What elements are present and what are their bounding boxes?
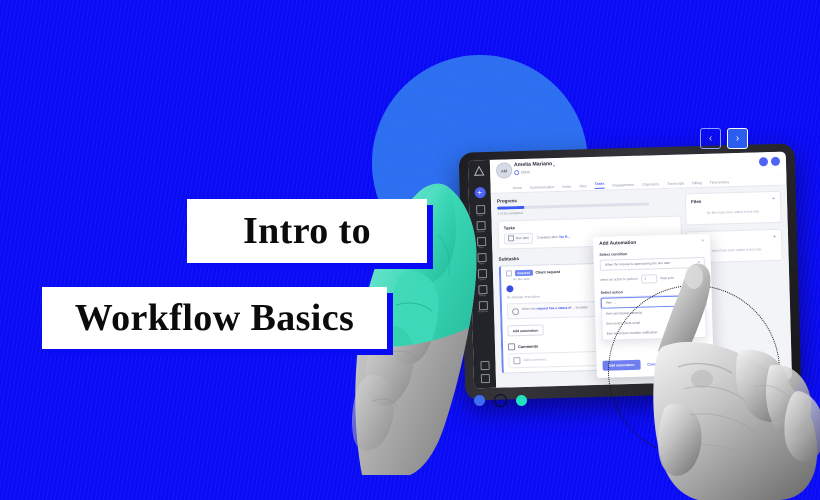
rail-item-inbox[interactable]: Inbox	[473, 205, 488, 217]
dotted-circle-decoration	[608, 285, 780, 457]
subtask-owner-avatar	[506, 285, 513, 292]
carousel-dot-3[interactable]	[516, 395, 527, 406]
condition-value: When the request is approaching the due …	[605, 261, 670, 267]
rail-item-files[interactable]: Files	[473, 237, 488, 249]
tab-engagements[interactable]: Engagements	[612, 182, 634, 187]
days-prior-input[interactable]: 1	[641, 274, 658, 284]
files-panel-title: Files	[691, 199, 701, 204]
days-prior-suffix: days prior	[660, 276, 674, 280]
rail-item-billing[interactable]: Billing	[475, 285, 490, 297]
inbox-icon	[476, 205, 485, 214]
slide-canvas: + Inbox Contacts Files	[0, 0, 820, 500]
chevron-down-icon: ▾	[698, 260, 700, 264]
progress-title: Progress	[497, 194, 681, 204]
checkbox-icon[interactable]	[506, 270, 512, 276]
comms-icon	[477, 269, 486, 278]
templates-icon	[478, 301, 487, 310]
comment-icon	[508, 343, 515, 350]
carousel-arrows[interactable]: ‹ ›	[700, 128, 748, 149]
add-new-button[interactable]: +	[474, 187, 485, 198]
progress-bar-fill	[497, 206, 524, 209]
tab-communication[interactable]: Communication	[530, 185, 554, 190]
days-prior-row: select an action to perform 1 days prior	[600, 272, 705, 284]
user-role: Client	[514, 170, 530, 175]
close-icon[interactable]: ×	[701, 239, 704, 244]
files-icon	[476, 237, 485, 246]
header-action-2-icon[interactable]	[771, 157, 780, 166]
status-badge: Required	[515, 269, 533, 275]
lightbulb-icon	[512, 308, 519, 315]
title-line-1: Intro to	[187, 199, 427, 263]
subtask-name: Client request	[535, 270, 560, 275]
title-line-2: Workflow Basics	[42, 287, 387, 349]
comment-bubble-icon	[513, 357, 520, 364]
due-date-chip[interactable]: Due date	[504, 232, 533, 244]
rail-spacer	[483, 317, 484, 357]
add-automation-button[interactable]: Add automation	[507, 325, 543, 337]
due-date-text: 2 week(s) after Tax R...	[537, 235, 570, 240]
tab-billing[interactable]: Billing	[692, 180, 701, 184]
tasks-icon	[477, 253, 486, 262]
tab-organizers[interactable]: Organizers	[642, 182, 659, 186]
avatar: AM	[496, 162, 512, 178]
billing-icon	[478, 285, 487, 294]
rail-item-settings[interactable]	[477, 374, 492, 383]
triangle-logo-icon	[473, 165, 485, 177]
modal-title: Add Automation	[599, 241, 636, 247]
tab-notes[interactable]: Notes	[562, 184, 571, 188]
user-name: Amelia Mariano	[514, 161, 552, 168]
carousel-next-button[interactable]: ›	[727, 128, 748, 149]
rail-item-comms[interactable]: Comms	[474, 269, 489, 281]
tab-files[interactable]: Files	[579, 184, 586, 188]
person-icon	[514, 170, 519, 175]
plus-icon[interactable]: +	[773, 235, 776, 240]
rail-item-calendar[interactable]	[477, 361, 492, 370]
rail-item-templates[interactable]: Templates	[475, 301, 490, 313]
condition-label: Select condition	[599, 250, 704, 257]
files-panel: Files + No files have been added to this…	[685, 191, 782, 226]
rail-item-contacts[interactable]: Contacts	[473, 221, 488, 233]
carousel-prev-button[interactable]: ‹	[700, 128, 721, 149]
tab-transcripts[interactable]: Transcripts	[667, 181, 684, 185]
condition-select[interactable]: When the request is approaching the due …	[600, 256, 705, 270]
automation-text: When the request has a status of ... tem…	[522, 305, 588, 312]
chevron-down-icon[interactable]: ▾	[553, 163, 555, 168]
plus-icon[interactable]: +	[772, 197, 775, 202]
carousel-dot-2[interactable]	[494, 394, 507, 407]
days-prior-prefix: select an action to perform	[600, 277, 638, 282]
tab-home[interactable]: Home	[513, 185, 522, 189]
comment-placeholder: Add a comment...	[523, 357, 548, 362]
tab-tasks[interactable]: Tasks	[595, 182, 605, 189]
files-panel-empty: No files have been added to this task.	[691, 209, 775, 215]
header-action-1-icon[interactable]	[759, 157, 768, 166]
header-actions[interactable]	[759, 157, 780, 167]
action-value: then ...	[606, 300, 616, 304]
calendar-icon	[480, 361, 489, 370]
settings-icon	[480, 374, 489, 383]
rail-item-tasks[interactable]: Tasks	[474, 253, 489, 265]
calendar-icon	[508, 235, 514, 241]
tab-time-entries[interactable]: Time Entries	[710, 180, 730, 185]
carousel-dots[interactable]	[474, 394, 527, 407]
contacts-icon	[476, 221, 485, 230]
carousel-dot-1[interactable]	[474, 395, 485, 406]
